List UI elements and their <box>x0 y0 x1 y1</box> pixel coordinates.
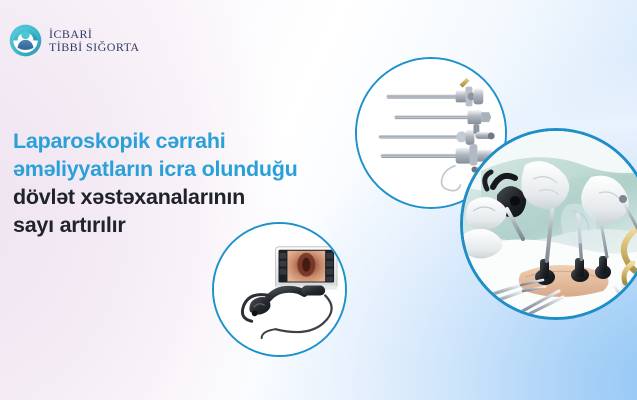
brand-logo[interactable]: İCBARİ TİBBİ SIĞORTA <box>9 24 140 57</box>
headline: Laparoskopik cərrahi əməliyyatların icra… <box>13 128 353 240</box>
banner: İCBARİ TİBBİ SIĞORTA Laparoskopik cərrah… <box>0 0 637 400</box>
endoscope-monitor-photo <box>212 222 347 357</box>
icbari-tibbi-sigorta-emblem-icon <box>9 24 42 57</box>
brand-logo-line-2: TİBBİ SIĞORTA <box>49 41 140 54</box>
laparoscopic-surgery-photo <box>460 128 637 320</box>
brand-logo-text: İCBARİ TİBBİ SIĞORTA <box>49 28 140 53</box>
headline-line-3: dövlət xəstəxanalarının <box>13 184 353 212</box>
brand-logo-line-1: İCBARİ <box>49 28 140 41</box>
headline-line-2: əməliyyatların icra olunduğu <box>13 156 353 184</box>
headline-line-1: Laparoskopik cərrahi <box>13 128 353 156</box>
